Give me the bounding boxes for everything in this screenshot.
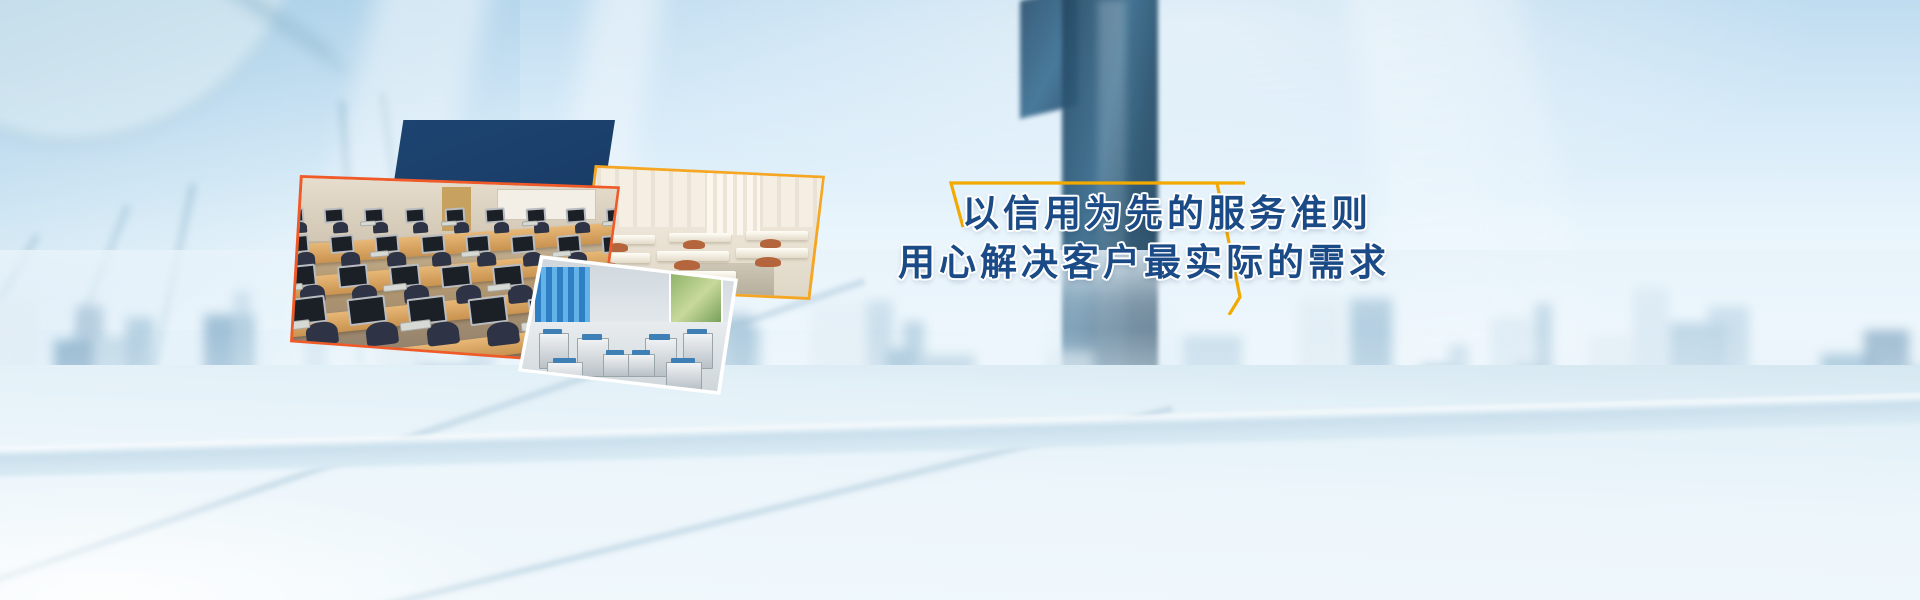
data-center-window [535,267,590,325]
lab-chair [413,222,429,234]
classroom-desk [657,251,729,261]
rack-monitor [606,350,624,355]
classroom-wall [583,168,822,227]
rack-monitor [632,350,650,355]
headline-line-1: 以信用为先的服务准则 [830,190,1390,239]
classroom-chair [760,239,782,248]
classroom-chair [755,257,781,267]
rack-monitor [553,358,577,363]
server-rack [603,354,630,377]
data-center-photo [522,259,734,391]
lab-chair [494,222,510,234]
lab-chair [574,222,590,234]
rack-monitor [649,334,670,339]
hero-banner: 以信用为先的服务准则 用心解决客户最实际的需求 [0,0,1920,600]
rack-monitor [671,358,695,363]
headline-line-2: 用心解决客户最实际的需求 [830,239,1390,288]
classroom-chair [683,240,705,249]
lab-chair [486,320,520,347]
classroom-chair [674,260,700,270]
headline-block: 以信用为先的服务准则 用心解决客户最实际的需求 [830,190,1390,288]
server-rack [628,354,655,377]
photo-collage [280,105,860,395]
classroom-curtain [707,168,760,235]
rooftop-plaza [0,365,1920,600]
lab-chair [426,320,460,347]
lab-chair [293,222,308,234]
rack-monitor [582,334,603,339]
rack-monitor [543,329,562,334]
lab-chair [431,251,452,267]
rack-monitor [687,329,706,334]
lab-keyboard [293,221,295,227]
lab-chair [332,222,348,234]
data-center-wall-map [669,272,724,329]
